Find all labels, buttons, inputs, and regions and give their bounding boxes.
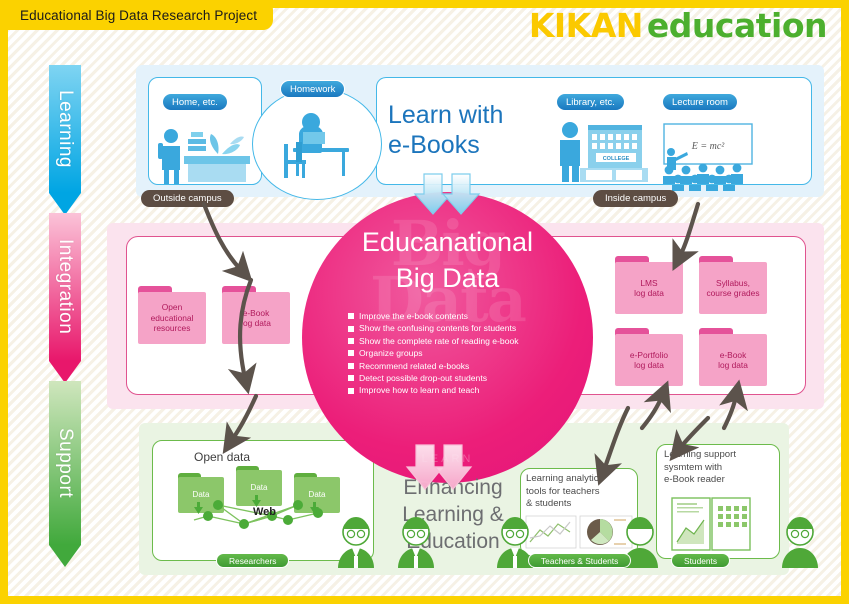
list-item-label: Improve how to learn and teach: [359, 384, 479, 396]
folder-label: Openeducationalresources: [138, 292, 206, 344]
infographic-page: Educational Big Data Research Project KI…: [0, 0, 849, 604]
open-data-title: Open data: [194, 450, 250, 464]
list-item-label: Detect possible drop-out students: [359, 372, 487, 384]
tag-inside-campus: Inside campus: [593, 190, 678, 207]
list-item: Improve the e-book contents: [348, 310, 578, 322]
list-item: Detect possible drop-out students: [348, 372, 578, 384]
circle-title-line2: Big Data: [302, 260, 593, 296]
folder-eportfolio-log-data: e-Portfoliolog data: [615, 328, 683, 386]
folder-label: Data: [236, 470, 282, 506]
folder-data-1: Data: [178, 473, 224, 513]
folder-label: Data: [178, 477, 224, 513]
web-label: Web: [253, 506, 276, 518]
phase-arrow-learning-tip: [49, 193, 81, 215]
homework-oval: [252, 88, 382, 200]
page-title: Educational Big Data Research Project: [0, 0, 273, 30]
page-title-text: Educational Big Data Research Project: [20, 8, 257, 23]
bullet-square-icon: [348, 350, 354, 356]
big-data-capability-list: Improve the e-book contents Show the con…: [348, 310, 578, 397]
circle-title: Educanational Big Data: [302, 224, 593, 296]
role-pill-researchers: Researchers: [216, 553, 289, 568]
folder-data-3: Data: [294, 473, 340, 513]
list-item-label: Recommend related e-books: [359, 360, 469, 372]
list-item: Improve how to learn and teach: [348, 384, 578, 396]
badge-lecture-room: Lecture room: [662, 93, 738, 111]
enhancing-learning-title: EnhancingLearning &Education: [388, 474, 518, 555]
list-item-label: Improve the e-book contents: [359, 310, 468, 322]
list-item: Recommend related e-books: [348, 360, 578, 372]
circle-footer-word: LEARN: [302, 453, 593, 465]
list-item-label: Show the complete rate of reading e-book: [359, 335, 519, 347]
phase-arrow-support: Support: [49, 381, 81, 567]
badge-home: Home, etc.: [162, 93, 228, 111]
educational-big-data-circle: BigData Educanational Big Data Improve t…: [302, 192, 593, 483]
role-pill-students: Students: [671, 553, 730, 568]
phase-label-integration: Integration: [49, 213, 81, 361]
folder-open-educational-resources: Openeducationalresources: [138, 286, 206, 344]
brand-education-text: education: [647, 6, 827, 45]
badge-homework: Homework: [280, 80, 345, 98]
list-item-label: Organize groups: [359, 347, 423, 359]
tag-outside-campus: Outside campus: [141, 190, 234, 207]
brand-kikan-text: KIKAN: [529, 6, 643, 45]
phase-arrow-integration: Integration: [49, 213, 81, 383]
learn-with-ebooks-title: Learn withe-Books: [388, 100, 538, 160]
bullet-square-icon: [348, 326, 354, 332]
bullet-square-icon: [348, 388, 354, 394]
phase-label-support: Support: [49, 381, 81, 545]
folder-label: Syllabus,course grades: [699, 262, 767, 314]
folder-label: e-Booklog data: [222, 292, 290, 344]
list-item: Show the confusing contents for students: [348, 322, 578, 334]
folder-data-2: Data: [236, 466, 282, 506]
folder-label: e-Portfoliolog data: [615, 334, 683, 386]
list-item: Show the complete rate of reading e-book: [348, 335, 578, 347]
phase-rail: Learning Integration Support: [49, 65, 81, 565]
folder-label: LMSlog data: [615, 262, 683, 314]
phase-arrow-support-tip: [49, 545, 81, 567]
folder-label: e-Booklog data: [699, 334, 767, 386]
phase-label-learning: Learning: [49, 65, 81, 193]
phase-arrow-learning: Learning: [49, 65, 81, 215]
bullet-square-icon: [348, 313, 354, 319]
role-pill-teachers-students: Teachers & Students: [528, 553, 631, 568]
folder-syllabus-course-grades: Syllabus,course grades: [699, 256, 767, 314]
ebook-reader-title: Learning supportsysmtem withe-Book reade…: [664, 449, 776, 487]
brand-logo: KIKANeducation: [529, 6, 827, 45]
bullet-square-icon: [348, 338, 354, 344]
bullet-square-icon: [348, 363, 354, 369]
phase-arrow-integration-tip: [49, 361, 81, 383]
badge-library: Library, etc.: [556, 93, 625, 111]
bullet-square-icon: [348, 375, 354, 381]
learning-analytics-title: Learning analyticstools for teachers& st…: [526, 473, 632, 511]
folder-ebook-log-data-left: e-Booklog data: [222, 286, 290, 344]
list-item-label: Show the confusing contents for students: [359, 322, 516, 334]
circle-title-line1: Educanational: [302, 224, 593, 260]
folder-ebook-log-data-right: e-Booklog data: [699, 328, 767, 386]
folder-label: Data: [294, 477, 340, 513]
folder-lms-log-data: LMSlog data: [615, 256, 683, 314]
list-item: Organize groups: [348, 347, 578, 359]
